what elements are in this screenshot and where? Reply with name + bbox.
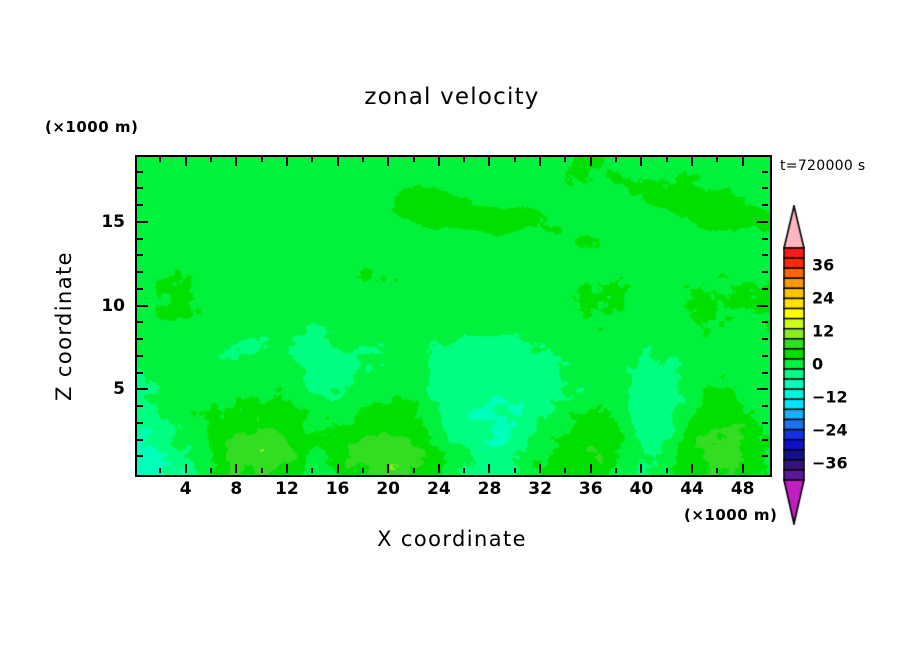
axis-tick [362,157,364,162]
axis-tick [514,157,516,162]
axis-tick [137,355,143,357]
x-tick-label: 12 [275,479,299,499]
axis-tick [666,468,668,473]
colorbar-tick-label: 0 [812,355,823,374]
x-tick-label: 24 [427,479,451,499]
y-tick-label: 10 [101,296,125,316]
axis-tick [762,187,768,189]
page-title: zonal velocity [0,84,904,110]
axis-tick [757,388,768,390]
colorbar-tick-label: 36 [812,255,834,274]
axis-tick [137,388,148,390]
colorbar-canvas [783,205,805,525]
contour-plot-area [135,155,772,477]
axis-tick [311,157,313,162]
axis-tick [742,157,744,166]
colorbar-tick-label: 12 [812,321,834,340]
axis-tick [762,405,768,407]
colorbar-tick-labels: 3624120−12−24−36 [812,205,872,525]
axis-tick [514,468,516,473]
axis-tick [762,355,768,357]
x-tick-label: 36 [579,479,603,499]
x-tick-label: 20 [376,479,400,499]
x-tick-label: 48 [731,479,755,499]
axis-tick [762,439,768,441]
axis-tick [337,464,339,473]
axis-tick [762,455,768,457]
axis-tick [762,372,768,374]
axis-tick [539,464,541,473]
axis-tick [137,455,143,457]
axis-tick [159,157,161,162]
contour-field-canvas [137,157,770,475]
axis-tick [762,271,768,273]
axis-tick [539,157,541,166]
axis-tick [640,157,642,166]
axis-tick [210,157,212,162]
axis-tick [235,157,237,166]
axis-tick [261,468,263,473]
axis-tick [261,157,263,162]
x-tick-label: 32 [528,479,552,499]
axis-tick [387,464,389,473]
colorbar-tick-label: 24 [812,288,834,307]
axis-tick [666,157,668,162]
axis-tick [590,464,592,473]
x-tick-label: 16 [326,479,350,499]
axis-tick [438,157,440,166]
colorbar-tick-label: −24 [812,421,848,440]
axis-tick [137,288,143,290]
axis-tick [159,468,161,473]
axis-tick [286,464,288,473]
axis-tick [615,468,617,473]
colorbar-tick-label: −12 [812,388,848,407]
x-tick-label: 40 [630,479,654,499]
axis-tick [185,157,187,166]
colorbar [783,205,805,525]
axis-tick [488,464,490,473]
x-axis-title: X coordinate [0,527,904,551]
axis-tick [716,468,718,473]
axis-tick [137,204,143,206]
axis-tick [311,468,313,473]
axis-tick [362,468,364,473]
axis-tick [757,221,768,223]
axis-tick [762,171,768,173]
axis-tick [762,422,768,424]
axis-tick [185,464,187,473]
axis-tick [564,157,566,162]
x-tick-label: 28 [478,479,502,499]
axis-tick [463,468,465,473]
x-tick-label: 4 [180,479,192,499]
axis-tick [488,157,490,166]
axis-tick [137,187,143,189]
y-tick-label: 15 [101,212,125,232]
axis-tick [762,254,768,256]
axis-tick [387,157,389,166]
colorbar-tick-label: −36 [812,454,848,473]
axis-tick [762,238,768,240]
axis-tick [286,157,288,166]
axis-tick [691,157,693,166]
axis-tick [137,321,143,323]
axis-tick [137,221,148,223]
axis-tick [137,338,143,340]
axis-tick [337,157,339,166]
axis-tick [137,238,143,240]
axis-tick [742,464,744,473]
axis-tick [438,464,440,473]
axis-tick [757,305,768,307]
axis-tick [137,271,143,273]
axis-tick [762,338,768,340]
axis-tick [762,321,768,323]
x-axis-units-label: (×1000 m) [684,506,777,524]
axis-tick [137,171,143,173]
axis-tick [463,157,465,162]
y-axis-title: Z coordinate [52,226,76,426]
axis-tick [413,157,415,162]
axis-tick [137,439,143,441]
time-annotation: t=720000 s [780,158,865,174]
axis-tick [590,157,592,166]
axis-tick [615,157,617,162]
figure-root: zonal velocity (×1000 m) (×1000 m) t=720… [0,0,904,654]
axis-tick [235,464,237,473]
axis-tick [137,422,143,424]
axis-tick [137,405,143,407]
axis-tick [762,204,768,206]
axis-tick [564,468,566,473]
y-tick-label: 5 [113,379,125,399]
axis-tick [210,468,212,473]
y-axis-tick-labels: 51015 [85,0,125,654]
axis-tick [137,372,143,374]
axis-tick [640,464,642,473]
x-tick-label: 8 [230,479,242,499]
axis-tick [137,254,143,256]
axis-tick [716,157,718,162]
x-tick-label: 44 [680,479,704,499]
axis-tick [762,288,768,290]
axis-tick [137,305,148,307]
axis-tick [691,464,693,473]
axis-tick [413,468,415,473]
